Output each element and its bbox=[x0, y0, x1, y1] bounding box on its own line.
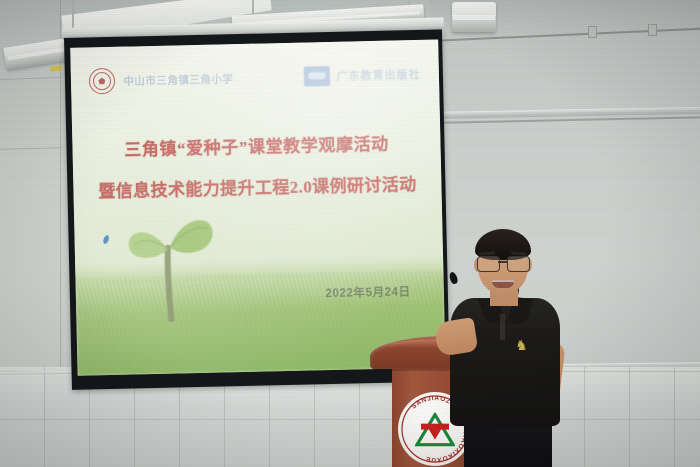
partner-logo-group: 广东教育出版社 bbox=[303, 64, 420, 87]
partner-logo-icon bbox=[303, 66, 329, 87]
wall-mounted-box bbox=[452, 2, 496, 32]
eyeglass-lens-right bbox=[507, 256, 530, 272]
partner-name-text: 广东教育出版社 bbox=[336, 66, 420, 84]
eyeglass-bridge bbox=[498, 261, 507, 263]
school-seal-icon bbox=[89, 68, 116, 95]
presenter-left-arm bbox=[434, 317, 479, 357]
projection-screen: 中山市三角镇三角小学 广东教育出版社 三角镇“爱种子”课堂教学观摩活动 暨信息技… bbox=[12, 18, 437, 390]
school-name-text: 中山市三角镇三角小学 bbox=[123, 71, 233, 88]
presenter-mouth bbox=[492, 280, 514, 288]
eyeglasses-icon bbox=[476, 256, 530, 271]
slide-header: 中山市三角镇三角小学 广东教育出版社 bbox=[89, 55, 421, 102]
slide-date-text: 2022年5月24日 bbox=[325, 283, 411, 301]
presenter-shirt-placket bbox=[500, 314, 505, 340]
presenter: ♞ bbox=[436, 228, 576, 467]
wire-clip bbox=[588, 26, 597, 38]
sprout-seedling-icon bbox=[122, 200, 221, 322]
wire-clip bbox=[648, 24, 657, 36]
eyeglass-lens-left bbox=[477, 256, 500, 272]
presenter-lower-body bbox=[464, 420, 552, 467]
classroom-photo-scene: 中山市三角镇三角小学 广东教育出版社 三角镇“爱种子”课堂教学观摩活动 暨信息技… bbox=[0, 0, 700, 467]
screen-surface: 中山市三角镇三角小学 广东教育出版社 三角镇“爱种子”课堂教学观摩活动 暨信息技… bbox=[70, 40, 445, 376]
polo-crest-icon: ♞ bbox=[514, 336, 529, 354]
